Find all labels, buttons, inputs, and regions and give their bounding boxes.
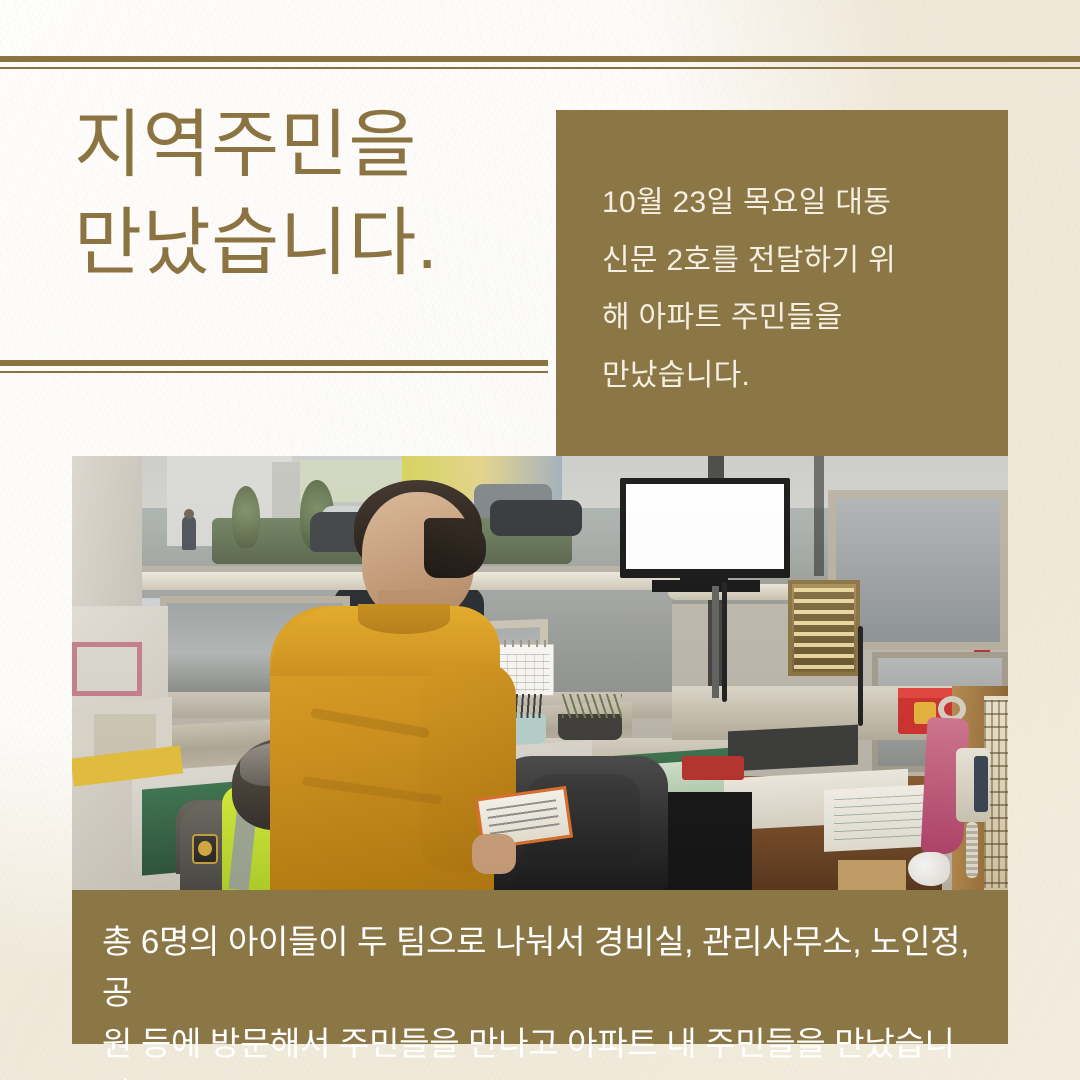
key-cabinet-keys bbox=[794, 588, 854, 670]
red-desk-phone bbox=[682, 756, 744, 780]
photo-security-office bbox=[72, 456, 1008, 890]
small-wooden-box bbox=[838, 860, 906, 890]
monitor-cable bbox=[722, 582, 727, 702]
page-title: 지역주민을 만났습니다. bbox=[74, 96, 544, 291]
visitor-sweater-collar bbox=[358, 604, 450, 634]
top-divider-thick bbox=[0, 56, 1080, 62]
visitor-hand bbox=[472, 834, 516, 874]
outdoor-car-4 bbox=[490, 500, 582, 536]
lead-text-box: 10월 23일 목요일 대동 신문 2호를 전달하기 위 해 아파트 주민들을 … bbox=[556, 110, 1008, 465]
chair-shadow bbox=[656, 792, 752, 890]
caption-text: 총 6명의 아이들이 두 팀으로 나눠서 경비실, 관리사무소, 노인정, 공 … bbox=[102, 916, 976, 1080]
plant-foliage bbox=[562, 694, 622, 718]
window-mullion-vertical-2 bbox=[814, 456, 824, 576]
lead-text: 10월 23일 목요일 대동 신문 2호를 전달하기 위 해 아파트 주민들을 … bbox=[602, 174, 964, 404]
power-cable bbox=[858, 626, 863, 726]
outdoor-pedestrian-head bbox=[184, 509, 194, 519]
pen-holder bbox=[512, 714, 546, 744]
telephone-cord bbox=[966, 822, 978, 878]
outdoor-pedestrian-body bbox=[182, 516, 196, 550]
desk-black-mat bbox=[728, 725, 858, 772]
wall-monitor-base bbox=[652, 580, 760, 592]
wall-monitor-arm bbox=[712, 586, 719, 698]
wall-telephone-keypad bbox=[974, 756, 988, 812]
outdoor-tree-1 bbox=[232, 486, 260, 548]
caption-bar: 총 6명의 아이들이 두 팀으로 나눠서 경비실, 관리사무소, 노인정, 공 … bbox=[72, 890, 1008, 1044]
visitor-hair-side bbox=[424, 518, 486, 578]
tissue bbox=[908, 852, 950, 886]
pink-picture-frame bbox=[72, 642, 142, 696]
social-card: 지역주민을 만났습니다. 10월 23일 목요일 대동 신문 2호를 전달하기 … bbox=[0, 0, 1080, 1080]
top-divider-thin bbox=[0, 67, 1080, 69]
guard-shoulder-badge-emblem bbox=[198, 841, 212, 856]
headline-divider-thick bbox=[0, 360, 548, 366]
wall-monitor-screen bbox=[626, 484, 784, 569]
headline-divider-thin bbox=[0, 371, 548, 373]
pens bbox=[516, 694, 544, 718]
